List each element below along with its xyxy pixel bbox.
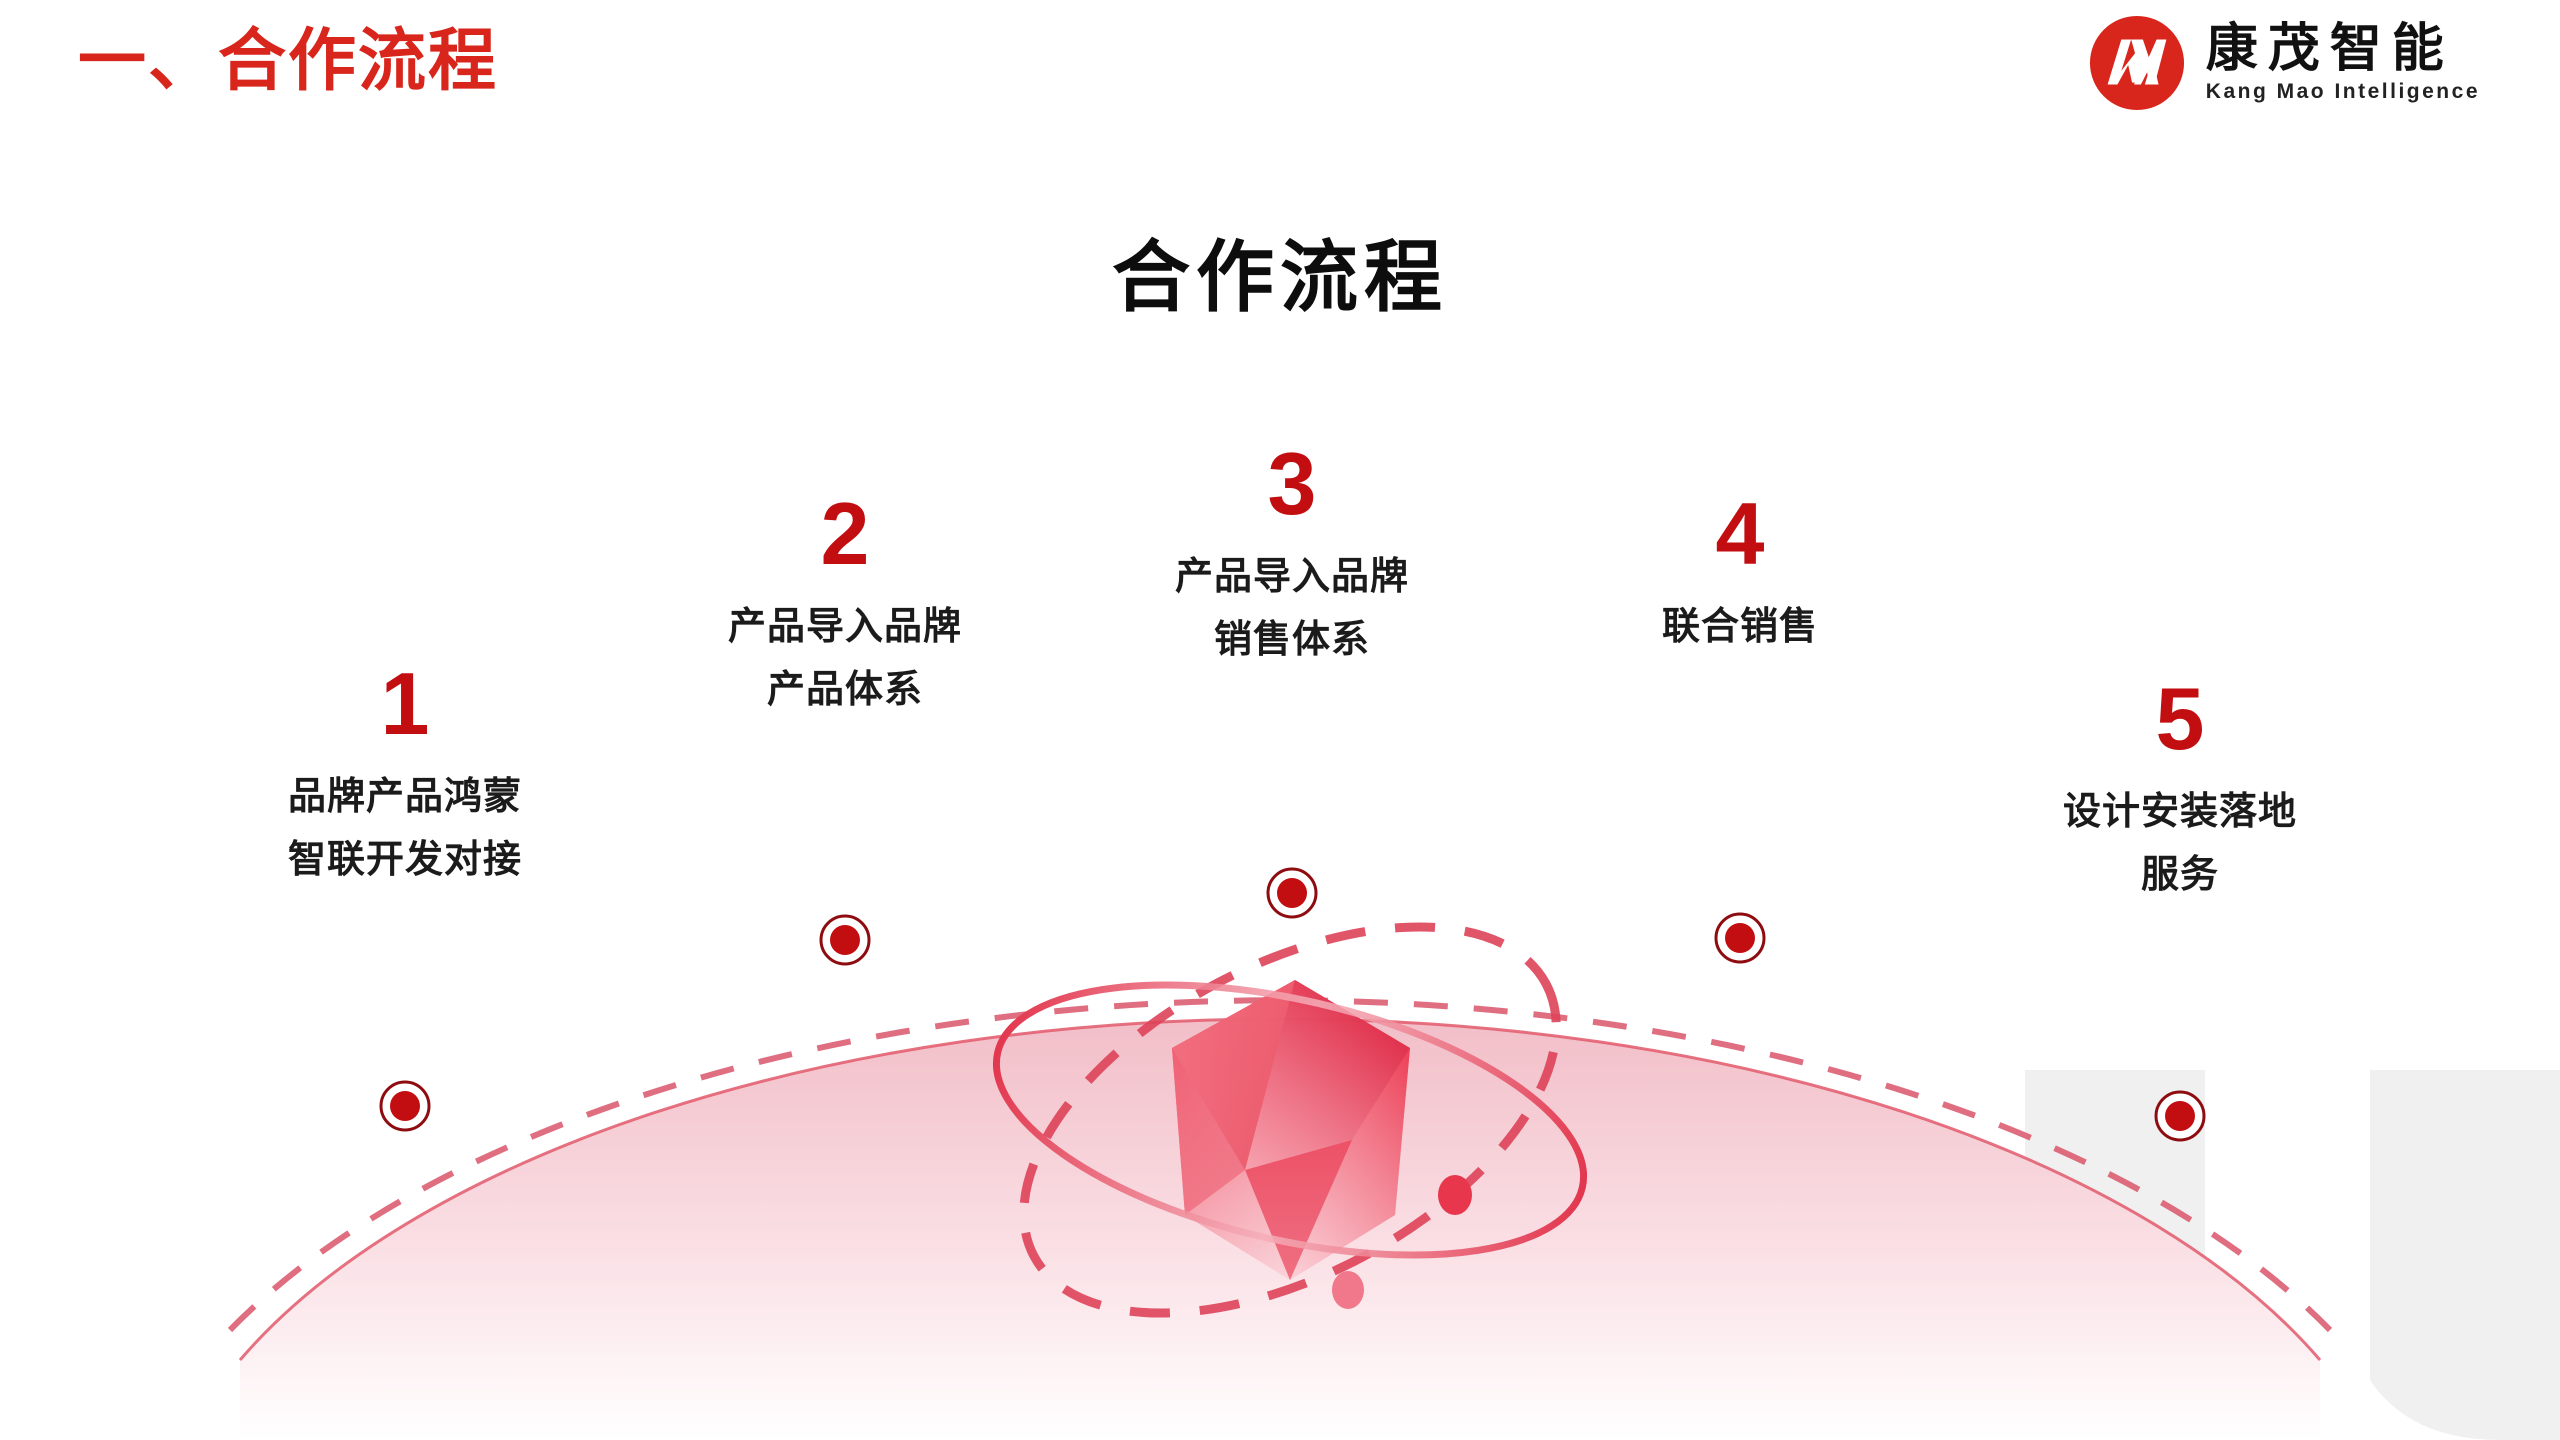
step-item-5[interactable]: 5 设计安装落地 服务 — [2063, 675, 2297, 906]
step-label-1-line-2: 智联开发对接 — [288, 829, 522, 892]
step-label-2-line-2: 产品体系 — [728, 659, 962, 722]
step-label-1-line-1: 品牌产品鸿蒙 — [288, 766, 522, 829]
step-label-5-line-1: 设计安装落地 — [2063, 781, 2297, 844]
step-marker-3[interactable] — [1268, 869, 1316, 917]
step-number-4: 4 — [1662, 490, 1818, 578]
step-number-5: 5 — [2063, 675, 2297, 763]
step-marker-4[interactable] — [1716, 914, 1764, 962]
orbit-sphere-lower — [1332, 1271, 1364, 1309]
step-number-1: 1 — [288, 660, 522, 748]
slide-root: 一、合作流程 康茂智能 Kang Mao Intelligence 合作流程 — [0, 0, 2560, 1440]
step-label-3-line-1: 产品导入品牌 — [1175, 546, 1409, 609]
step-marker-1[interactable] — [381, 1082, 429, 1130]
step-label-4-line-1: 联合销售 — [1662, 596, 1818, 659]
step-label-2-line-1: 产品导入品牌 — [728, 596, 962, 659]
step-marker-2[interactable] — [821, 916, 869, 964]
step-marker-5[interactable] — [2156, 1092, 2204, 1140]
process-diagram: 1 品牌产品鸿蒙 智联开发对接 2 产品导入品牌 产品体系 3 产品导入品牌 销… — [0, 0, 2560, 1440]
step-label-3-line-2: 销售体系 — [1175, 609, 1409, 672]
step-item-1[interactable]: 1 品牌产品鸿蒙 智联开发对接 — [288, 660, 522, 891]
step-item-3[interactable]: 3 产品导入品牌 销售体系 — [1175, 440, 1409, 671]
orbit-sphere-right — [1438, 1175, 1472, 1215]
step-item-4[interactable]: 4 联合销售 — [1662, 490, 1818, 659]
step-item-2[interactable]: 2 产品导入品牌 产品体系 — [728, 490, 962, 721]
step-label-5-line-2: 服务 — [2063, 844, 2297, 907]
step-number-2: 2 — [728, 490, 962, 578]
step-number-3: 3 — [1175, 440, 1409, 528]
